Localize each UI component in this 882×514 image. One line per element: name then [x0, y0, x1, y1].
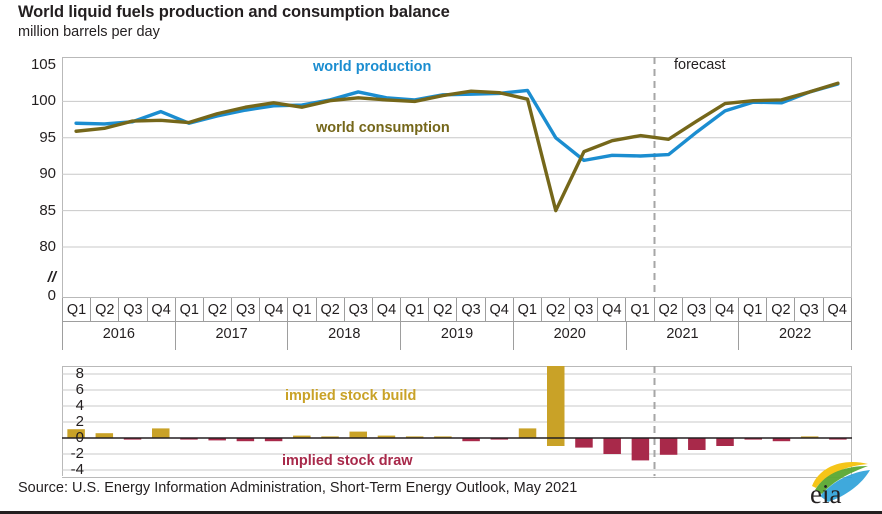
- quarter-label: Q4: [710, 298, 738, 322]
- y-tick-95: 95: [10, 130, 56, 145]
- quarter-label: Q1: [400, 298, 428, 322]
- stock-draw-label: implied stock draw: [282, 453, 413, 469]
- bar-chart-svg: [62, 366, 852, 478]
- forecast-label: forecast: [674, 57, 726, 73]
- bar: [519, 428, 536, 438]
- bar-y-tick-4: 4: [40, 398, 84, 413]
- quarter-label: Q2: [316, 298, 344, 322]
- quarter-label: Q3: [456, 298, 484, 322]
- quarter-label: Q4: [147, 298, 175, 322]
- source-text: Source: U.S. Energy Information Administ…: [18, 480, 577, 496]
- quarter-label: Q3: [344, 298, 372, 322]
- line-series-consumption: [76, 83, 838, 210]
- quarter-label: Q2: [203, 298, 231, 322]
- x-axis-band: Q1Q2Q3Q4Q1Q2Q3Q4Q1Q2Q3Q4Q1Q2Q3Q4Q1Q2Q3Q4…: [62, 298, 852, 350]
- quarter-label: Q4: [823, 298, 852, 322]
- quarter-label: Q2: [428, 298, 456, 322]
- svg-text:eia: eia: [810, 479, 841, 508]
- source-divider: [0, 476, 882, 477]
- year-label: 2020: [513, 322, 626, 350]
- bar: [603, 438, 620, 454]
- year-label-row: 2016201720182019202020212022: [62, 322, 852, 350]
- line-chart-svg: [62, 57, 852, 298]
- quarter-label: Q3: [682, 298, 710, 322]
- quarter-label: Q4: [597, 298, 625, 322]
- series-label-consumption: world consumption: [316, 120, 450, 136]
- bar-chart-panel: [62, 366, 852, 478]
- bar: [575, 438, 592, 448]
- quarter-label: Q3: [118, 298, 146, 322]
- chart-subtitle: million barrels per day: [18, 24, 160, 40]
- bar: [716, 438, 733, 446]
- y-tick-85: 85: [10, 203, 56, 218]
- y-tick-0: 0: [10, 288, 56, 303]
- quarter-label: Q2: [766, 298, 794, 322]
- bar: [688, 438, 705, 450]
- bar-y-tick-8: 8: [40, 366, 84, 381]
- y-tick-80: 80: [10, 239, 56, 254]
- quarter-label: Q1: [287, 298, 315, 322]
- bar-y-tick-6: 6: [40, 382, 84, 397]
- bar: [632, 438, 649, 460]
- bar-y-tick-2: 2: [40, 414, 84, 429]
- quarter-label: Q2: [90, 298, 118, 322]
- quarter-label: Q1: [513, 298, 541, 322]
- y-tick-100: 100: [10, 93, 56, 108]
- year-label: 2019: [400, 322, 513, 350]
- bar: [152, 428, 169, 438]
- year-label: 2018: [287, 322, 400, 350]
- chart-page: World liquid fuels production and consum…: [0, 0, 882, 514]
- quarter-label: Q4: [372, 298, 400, 322]
- quarter-label: Q4: [485, 298, 513, 322]
- bar-y-tick-0: 0: [40, 430, 84, 445]
- quarter-label: Q1: [62, 298, 90, 322]
- eia-logo: eia: [782, 456, 874, 508]
- bar: [660, 438, 677, 455]
- quarter-label: Q1: [625, 298, 653, 322]
- quarter-label-row: Q1Q2Q3Q4Q1Q2Q3Q4Q1Q2Q3Q4Q1Q2Q3Q4Q1Q2Q3Q4…: [62, 298, 852, 322]
- bar: [350, 432, 367, 438]
- bar: [547, 366, 564, 446]
- quarter-label: Q3: [569, 298, 597, 322]
- series-label-production: world production: [313, 59, 431, 75]
- y-tick-90: 90: [10, 166, 56, 181]
- bar: [96, 433, 113, 438]
- year-label: 2016: [62, 322, 175, 350]
- y-tick-105: 105: [10, 57, 56, 72]
- line-chart-panel: [62, 57, 852, 298]
- quarter-label: Q1: [175, 298, 203, 322]
- page-title: World liquid fuels production and consum…: [18, 3, 450, 22]
- year-label: 2017: [175, 322, 288, 350]
- quarter-label: Q3: [231, 298, 259, 322]
- quarter-label: Q4: [259, 298, 287, 322]
- y-axis-break: //: [10, 269, 56, 286]
- quarter-label: Q1: [738, 298, 766, 322]
- year-label: 2022: [738, 322, 852, 350]
- bar-y-tick--2: -2: [40, 446, 84, 461]
- quarter-label: Q2: [654, 298, 682, 322]
- quarter-label: Q3: [794, 298, 822, 322]
- bar-y-tick--4: -4: [40, 462, 84, 477]
- year-label: 2021: [626, 322, 739, 350]
- stock-build-label: implied stock build: [285, 388, 416, 404]
- quarter-label: Q2: [541, 298, 569, 322]
